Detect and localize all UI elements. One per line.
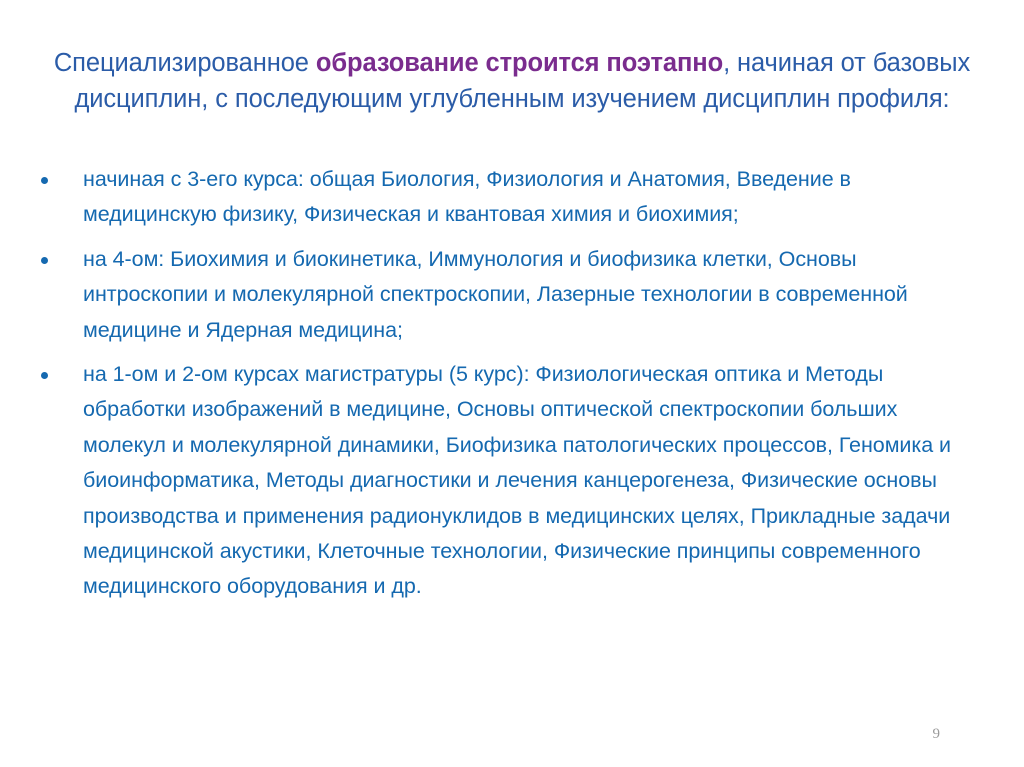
bullet-dot-icon (41, 372, 48, 379)
list-item-text: на 4-ом: Биохимия и биокинетика, Иммунол… (83, 242, 964, 348)
slide-canvas: Специализированное образование строится … (0, 0, 1024, 767)
list-item-text: на 1-ом и 2-ом курсах магистратуры (5 ку… (83, 357, 964, 605)
list-item: на 4-ом: Биохимия и биокинетика, Иммунол… (0, 242, 1024, 348)
list-item: на 1-ом и 2-ом курсах магистратуры (5 ку… (0, 357, 1024, 605)
bullet-dot-icon (41, 177, 48, 184)
list-item: начиная с 3-его курса: общая Биология, Ф… (0, 162, 1024, 233)
bullet-list: начиная с 3-его курса: общая Биология, Ф… (0, 162, 1024, 614)
slide-title: Специализированное образование строится … (40, 45, 984, 117)
bullet-dot-icon (41, 257, 48, 264)
list-item-text: начиная с 3-его курса: общая Биология, Ф… (83, 162, 964, 233)
page-number: 9 (933, 726, 941, 743)
title-text-plain-lead: Специализированное (54, 49, 316, 77)
title-text-plain-trail: , начиная от базовых (723, 49, 970, 77)
title-text-accent: образование строится поэтапно (316, 49, 723, 77)
title-line-2: дисциплин, с последующим углубленным изу… (40, 81, 984, 117)
title-line-1: Специализированное образование строится … (40, 45, 984, 81)
